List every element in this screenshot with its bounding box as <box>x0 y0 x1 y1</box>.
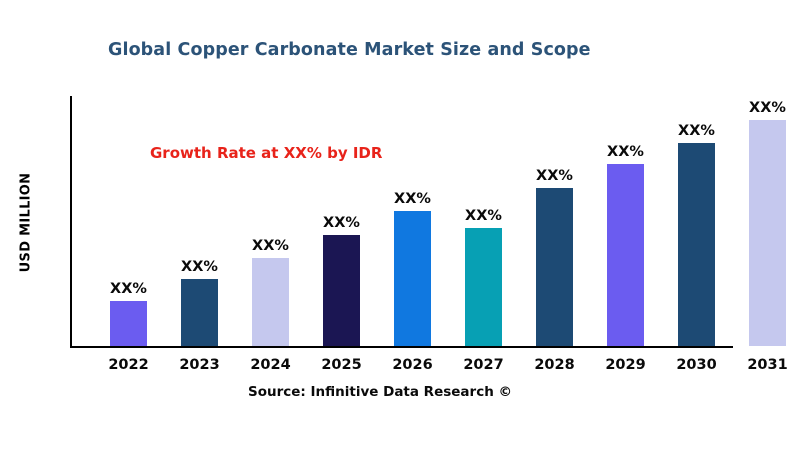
bar-2028[interactable] <box>536 188 573 346</box>
bar-2029[interactable] <box>607 164 644 346</box>
plot-area: XX% 2022 XX% 2023 XX% 2024 XX% 2025 XX% … <box>70 96 733 348</box>
bar-2024[interactable] <box>252 258 289 346</box>
bar-group-2023[interactable]: XX% 2023 <box>181 98 218 348</box>
bar-value-label: XX% <box>110 281 147 297</box>
bar-group-2030[interactable]: XX% 2030 <box>678 98 715 348</box>
x-tick-label-2023: 2023 <box>179 357 219 373</box>
x-tick-label-2022: 2022 <box>108 357 148 373</box>
x-tick-label-2024: 2024 <box>250 357 290 373</box>
bar-value-label: XX% <box>181 259 218 275</box>
bar-2023[interactable] <box>181 279 218 346</box>
bar-value-label: XX% <box>607 144 644 160</box>
y-axis-line <box>70 96 72 348</box>
bar-group-2025[interactable]: XX% 2025 <box>323 98 360 348</box>
bar-2030[interactable] <box>678 143 715 346</box>
x-tick-label-2031: 2031 <box>747 357 787 373</box>
source-note: Source: Infinitive Data Research © <box>0 384 760 400</box>
bar-value-label: XX% <box>323 215 360 231</box>
y-axis-label: USD MILLION <box>19 172 34 272</box>
bar-group-2024[interactable]: XX% 2024 <box>252 98 289 348</box>
growth-rate-annotation: Growth Rate at XX% by IDR <box>150 144 382 162</box>
bar-group-2029[interactable]: XX% 2029 <box>607 98 644 348</box>
bar-value-label: XX% <box>394 191 431 207</box>
x-tick-label-2029: 2029 <box>605 357 645 373</box>
x-tick-label-2027: 2027 <box>463 357 503 373</box>
chart-title: Global Copper Carbonate Market Size and … <box>108 40 591 60</box>
bar-value-label: XX% <box>749 100 786 116</box>
bar-group-2022[interactable]: XX% 2022 <box>110 98 147 348</box>
chart-figure: Global Copper Carbonate Market Size and … <box>0 0 800 450</box>
bar-2022[interactable] <box>110 301 147 346</box>
bar-value-label: XX% <box>678 123 715 139</box>
y-axis-label-wrapper: USD MILLION <box>14 96 38 348</box>
bar-group-2028[interactable]: XX% 2028 <box>536 98 573 348</box>
bar-2031[interactable] <box>749 120 786 346</box>
x-tick-label-2026: 2026 <box>392 357 432 373</box>
bar-2026[interactable] <box>394 211 431 346</box>
bar-group-2026[interactable]: XX% 2026 <box>394 98 431 348</box>
bar-value-label: XX% <box>465 208 502 224</box>
bar-2027[interactable] <box>465 228 502 346</box>
x-tick-label-2030: 2030 <box>676 357 716 373</box>
bar-group-2031[interactable]: XX% 2031 <box>749 98 786 348</box>
bar-2025[interactable] <box>323 235 360 346</box>
x-tick-label-2028: 2028 <box>534 357 574 373</box>
bar-value-label: XX% <box>252 238 289 254</box>
bar-value-label: XX% <box>536 168 573 184</box>
bar-group-2027[interactable]: XX% 2027 <box>465 98 502 348</box>
x-tick-label-2025: 2025 <box>321 357 361 373</box>
